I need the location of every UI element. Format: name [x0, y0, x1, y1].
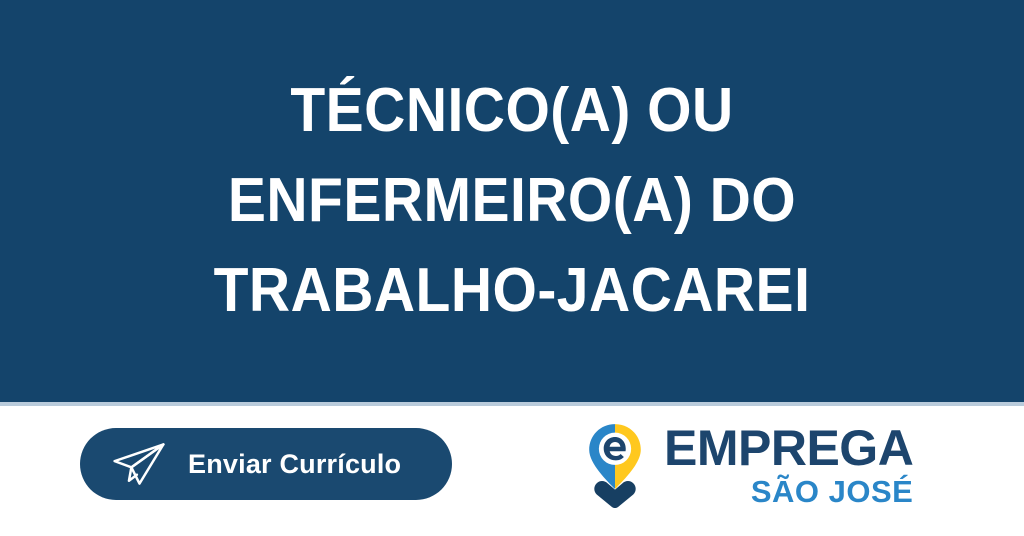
footer-bar: Enviar Currículo EMPREGA SÃO JOSÉ — [0, 406, 1024, 536]
page-title-line-2: ENFERMEIRO(A) DO — [63, 156, 961, 246]
send-resume-button[interactable]: Enviar Currículo — [80, 428, 452, 500]
page-title-line-1: TÉCNICO(A) OU — [63, 66, 961, 156]
brand-name: EMPREGA — [664, 424, 913, 472]
page-title: TÉCNICO(A) OU ENFERMEIRO(A) DO TRABALHO-… — [63, 66, 961, 336]
map-pin-e-icon — [588, 423, 642, 509]
send-resume-label: Enviar Currículo — [188, 449, 401, 480]
brand-subtitle: SÃO JOSÉ — [751, 474, 914, 510]
paper-plane-icon — [110, 442, 168, 486]
hero-banner: TÉCNICO(A) OU ENFERMEIRO(A) DO TRABALHO-… — [0, 0, 1024, 402]
brand-wordmark: EMPREGA SÃO JOSÉ — [664, 420, 913, 510]
brand-logo[interactable]: EMPREGA SÃO JOSÉ — [588, 420, 918, 520]
job-vacancy-card: TÉCNICO(A) OU ENFERMEIRO(A) DO TRABALHO-… — [0, 0, 1024, 536]
page-title-line-3: TRABALHO-JACAREI — [63, 246, 961, 336]
